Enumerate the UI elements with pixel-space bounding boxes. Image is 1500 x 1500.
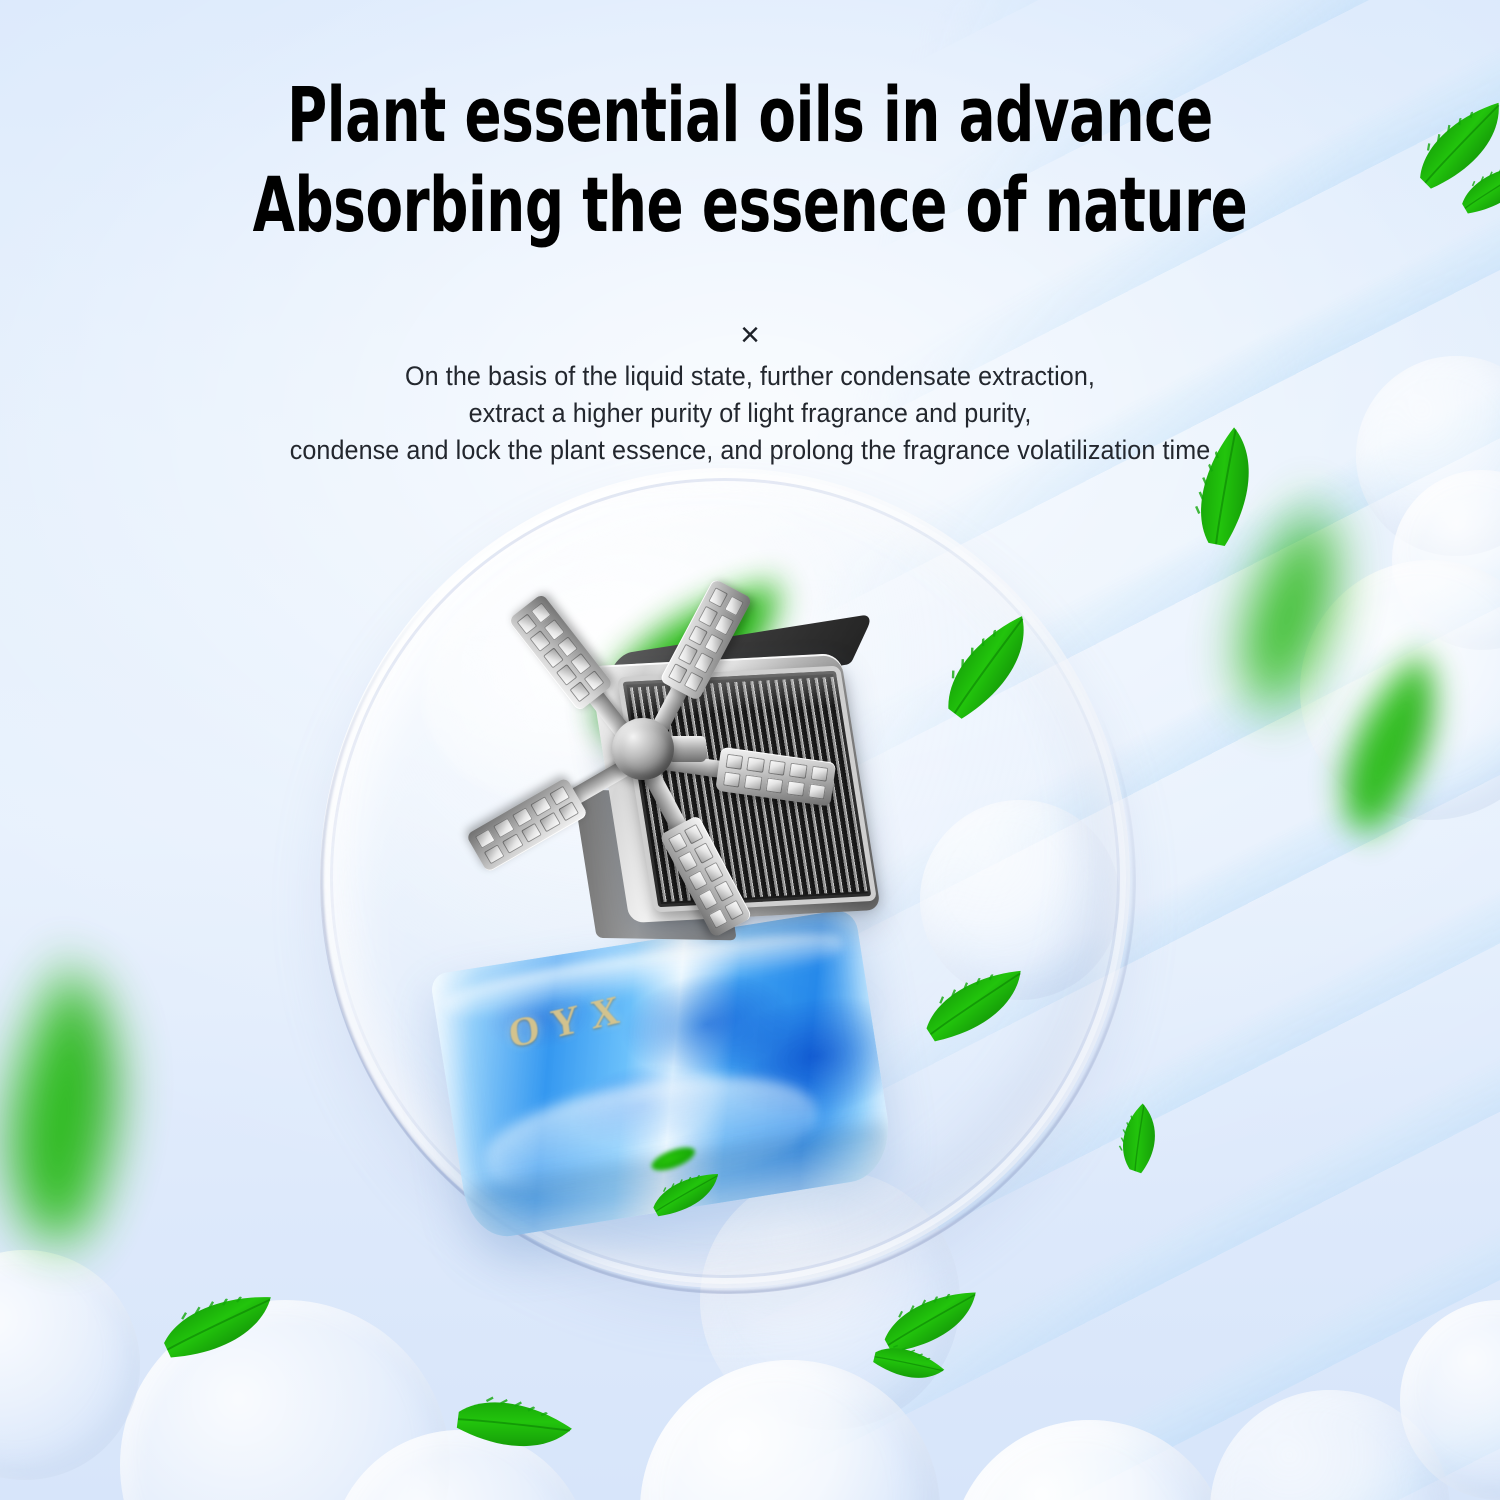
blade-window: [768, 760, 786, 776]
bubble-bottom-6: [330, 1430, 590, 1500]
windmill-hub: [612, 718, 674, 780]
blade-window: [502, 833, 523, 853]
leaf-bottom-mid-2-icon: [868, 1332, 947, 1397]
blade-window: [539, 812, 560, 832]
blade-window: [688, 625, 708, 646]
poster-canvas: OYX Plant essential oils in advance Abso…: [0, 0, 1500, 1500]
blade-window: [714, 880, 734, 901]
headline-line-2: Absorbing the essence of nature: [150, 160, 1350, 250]
blade-window: [694, 652, 714, 673]
close-icon: ×: [0, 318, 1500, 352]
leaf-left-big-blur-icon: [0, 951, 183, 1259]
blade-window: [810, 766, 828, 782]
bubble-right-upper: [1392, 470, 1500, 650]
blade-window: [723, 772, 741, 788]
blade-window: [704, 633, 724, 654]
description-line-2: extract a higher purity of light fragran…: [53, 395, 1448, 432]
blade-window: [725, 754, 743, 770]
blade-window: [678, 644, 698, 665]
bubble-bottom-left-big: [120, 1300, 450, 1500]
blade-window: [708, 587, 728, 608]
blade-window: [808, 783, 826, 799]
blade-window: [678, 851, 698, 872]
bubble-bottom-5: [1400, 1300, 1500, 1500]
blade-window: [698, 889, 718, 910]
blade-window: [708, 908, 728, 929]
blade-window: [787, 780, 805, 796]
windmill-assembly: [430, 540, 990, 1010]
leaf-right-soft-icon: [1199, 494, 1392, 723]
blade-window: [668, 663, 688, 684]
blade-window: [744, 775, 762, 791]
blade-window: [694, 843, 714, 864]
blade-window: [484, 844, 505, 864]
bubble-bottom-4: [1210, 1390, 1450, 1500]
blade-window: [684, 824, 704, 845]
bubble-bottom-3: [950, 1420, 1230, 1500]
leaf-right-mid-icon: [1302, 642, 1488, 846]
description-paragraph: On the basis of the liquid state, furthe…: [53, 358, 1448, 469]
bubble-bottom-2: [640, 1360, 940, 1500]
blade-window: [704, 862, 724, 883]
product-image-solar-windmill-air-freshener: OYX: [430, 540, 990, 1220]
page-title: Plant essential oils in advance Absorbin…: [150, 70, 1350, 249]
blade-window: [747, 757, 765, 773]
blade-window: [765, 777, 783, 793]
blade-window-grid: [466, 777, 588, 873]
blade-window: [698, 606, 718, 627]
description-line-3: condense and lock the plant essence, and…: [53, 432, 1448, 469]
leaf-right-lower-icon: [1106, 1100, 1177, 1178]
leaf-left-small-icon: [157, 1292, 281, 1362]
blade-window: [668, 832, 688, 853]
bubble-right-mid: [1300, 560, 1500, 820]
leaf-top-right-2-icon: [1455, 161, 1500, 217]
blade-window: [724, 899, 744, 920]
blade-window-grid: [507, 593, 613, 711]
leaf-bottom-mid-1-icon: [876, 1288, 988, 1357]
headline-line-1: Plant essential oils in advance: [150, 70, 1350, 160]
description-line-1: On the basis of the liquid state, furthe…: [53, 358, 1448, 395]
blade-window: [688, 870, 708, 891]
blade-window: [521, 823, 542, 843]
leaf-top-right-1-icon: [1402, 97, 1500, 195]
blade-window: [714, 614, 734, 635]
bubble-left-edge: [0, 1250, 140, 1480]
blade-window: [724, 596, 744, 617]
blade-window: [789, 763, 807, 779]
blade-window: [684, 671, 704, 692]
leaf-bottom-left-icon: [449, 1379, 577, 1476]
blade-window: [558, 801, 579, 821]
